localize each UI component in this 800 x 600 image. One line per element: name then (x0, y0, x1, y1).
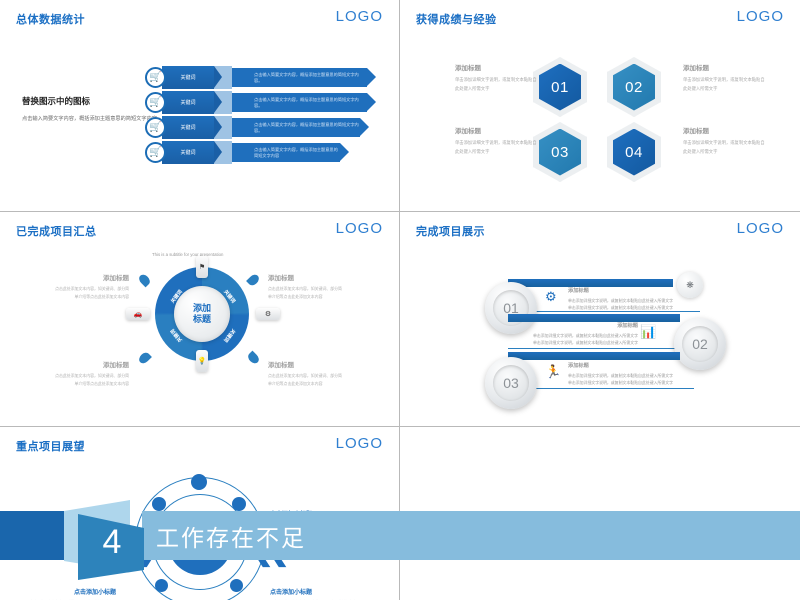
hexagon-03[interactable]: 03 (533, 122, 587, 182)
car-icon[interactable]: 🚗 (126, 308, 150, 320)
slide1-row-text: 点击输入简要文字内容，概括添加主题意思的简短文字内容。 (254, 72, 367, 84)
slide3-text-block: 添加标题 点击此处添加文本内容，如关键词、部分简单介绍等点击此处添加文本内容 (268, 359, 342, 388)
slide6-left-bar (0, 511, 64, 560)
slide5-dot (232, 497, 246, 511)
slide4-body-line: 单击添加详细文字说明，或复制文本黏贴自此处键入所需文字 (568, 297, 692, 304)
slide2-text-block: 添加标题 单击添加详细文字说明，或复制文本黏贴自此处键入所需文字 (683, 62, 765, 93)
petal-decor (246, 351, 261, 366)
slide1-row-keyword: 关键词 (162, 91, 214, 114)
slide5-dot (155, 579, 168, 592)
slide4-line (508, 348, 700, 349)
hexagon-face: 01 (539, 64, 581, 111)
slide3-body: 点击此处添加文本内容，如关键词、部分简单介绍等点击此处添加文本内容 (55, 285, 129, 301)
slide2-body: 单击添加详细文字说明，或复制文本黏贴自此处键入所需文字 (455, 139, 537, 156)
flag-icon[interactable]: ⚑ (196, 256, 208, 278)
slide1-row-text: 点击输入简要文字内容，概括添加主题意思的简短文字内容。 (254, 97, 367, 109)
slide2-heading: 添加标题 (455, 62, 537, 72)
slide4-number-circle[interactable]: 03 (485, 357, 537, 409)
lightbulb-icon[interactable]: 💡 (196, 350, 208, 372)
hexagon-shadow: 01 (533, 57, 587, 117)
slide-thumbnail-1[interactable]: 总体数据统计 LOGO 替换图示中的图标 点击输入简要文字内容，概括添加主题意思… (0, 0, 400, 212)
shopping-cart-icon: 🛒 (145, 92, 166, 113)
hexagon-face: 04 (613, 129, 655, 176)
slide4-heading: 添加标题 (568, 362, 692, 369)
slide1-row-bar: 点击输入简要文字内容，概括添加主题意思的简短文字内容 (232, 143, 340, 162)
hexagon-number: 04 (625, 144, 643, 161)
slide5-text-block: 点击添加小标题 点击输入简要文字内容，概括添加主题意思的简短内容。 (270, 587, 366, 600)
slide-thumbnail-4[interactable]: 完成项目展示 LOGO 01 ⚙ 添加标题 单击添加详细文字说明，或复制文本黏贴… (400, 212, 800, 427)
page-title: 获得成绩与经验 (416, 11, 497, 27)
slide1-body: 点击输入简要文字内容，概括添加主题意思的简短文字内容 (22, 115, 162, 125)
slide3-text-block: 添加标题 点击此处添加文本内容，如关键词、部分简单介绍等点击此处添加文本内容 (55, 359, 129, 388)
flourish-icon: ❋ (677, 272, 703, 298)
hexagon-number: 02 (625, 79, 643, 96)
hexagon-face: 03 (539, 129, 581, 176)
slide4-heading: 添加标题 (514, 322, 638, 329)
slide-thumbnail-2[interactable]: 获得成绩与经验 LOGO 01 02 03 04 添加标题 单击添加详细文字说明… (400, 0, 800, 212)
slide1-row-keyword: 关键词 (162, 141, 214, 164)
slide3-text-block: 添加标题 点击此处添加文本内容，如关键词、部分简单介绍等点击此处添加文本内容 (55, 272, 129, 301)
petal-decor (137, 273, 152, 288)
slide4-heading: 添加标题 (568, 287, 692, 294)
slide2-heading: 添加标题 (455, 125, 537, 135)
slide5-dot (152, 497, 166, 511)
slide4-text-block: 添加标题 单击添加详细文字说明，或复制文本黏贴自此处键入所需文字 单击添加详细文… (568, 362, 692, 387)
slide6-number: 4 (103, 523, 122, 562)
slide2-text-block: 添加标题 单击添加详细文字说明，或复制文本黏贴自此处键入所需文字 (455, 125, 537, 156)
slide5-text-block: 点击添加小标题 点击输入简要文字内容，概括添加主题意思的简短内容。 (20, 587, 116, 600)
hexagon-number: 01 (551, 79, 569, 96)
slide1-row-bar: 点击输入简要文字内容，概括添加主题意思的简短文字内容。 (232, 118, 360, 137)
slide1-left-text: 替换图示中的图标 点击输入简要文字内容，概括添加主题意思的简短文字内容 (22, 95, 162, 125)
slide2-text-block: 添加标题 单击添加详细文字说明，或复制文本黏贴自此处键入所需文字 (455, 62, 537, 93)
hexagon-04[interactable]: 04 (607, 122, 661, 182)
gear-icon[interactable]: ⚙ (256, 308, 280, 320)
slide3-body: 点击此处添加文本内容，如关键词、部分简单介绍等点击此处添加文本内容 (55, 372, 129, 388)
slide1-heading: 替换图示中的图标 (22, 95, 162, 107)
slide1-row-bar: 点击输入简要文字内容，概括添加主题意思的简短文字内容。 (232, 68, 367, 87)
slide4-bar (508, 314, 680, 322)
slide5-dot (191, 474, 207, 490)
slide4-body-line: 单击添加详细文字说明，或复制文本黏贴自此处键入所需文字 (568, 379, 692, 386)
slide3-subtitle: This is a subtitle for your presentation (152, 252, 223, 257)
page-title: 已完成项目汇总 (16, 223, 97, 239)
slide1-row-keyword: 关键词 (162, 66, 214, 89)
slide4-bar (508, 352, 680, 360)
slide4-body-line: 单击添加详细文字说明，或复制文本黏贴自此处键入所需文字 (514, 339, 638, 346)
slide5-heading: 点击添加小标题 (270, 587, 366, 596)
hexagon-face: 02 (613, 64, 655, 111)
slide5-dot (230, 579, 243, 592)
slide1-row-keyword: 关键词 (162, 116, 214, 139)
slide3-heading: 添加标题 (268, 272, 342, 282)
slide4-body-line: 单击添加详细文字说明，或复制文本黏贴自此处键入所需文字 (568, 372, 692, 379)
slide3-heading: 添加标题 (55, 272, 129, 282)
slide4-number: 03 (493, 365, 529, 401)
slide4-number: 02 (682, 326, 718, 362)
slide2-body: 单击添加详细文字说明，或复制文本黏贴自此处键入所需文字 (455, 76, 537, 93)
hexagon-01[interactable]: 01 (533, 57, 587, 117)
shopping-cart-icon: 🛒 (145, 117, 166, 138)
slide3-heading: 添加标题 (55, 359, 129, 369)
slide2-text-block: 添加标题 单击添加详细文字说明，或复制文本黏贴自此处键入所需文字 (683, 125, 765, 156)
team-gear-icon: ⚙ (545, 289, 557, 305)
logo: LOGO (737, 220, 784, 237)
presentation-icon: 📊 (640, 324, 656, 340)
page-title: 总体数据统计 (16, 11, 85, 27)
slide6-band: 工作存在不足 (142, 511, 800, 560)
slide5-heading: 点击添加小标题 (20, 587, 116, 596)
slide2-heading: 添加标题 (683, 125, 765, 135)
page-title: 重点项目展望 (16, 438, 85, 454)
logo: LOGO (336, 220, 383, 237)
slide3-ring: 添加 标题 关键词 关键词 关键词 关键词 (155, 267, 249, 361)
slide1-row-text: 点击输入简要文字内容，概括添加主题意思的简短文字内容。 (254, 122, 360, 134)
hexagon-shadow: 03 (533, 122, 587, 182)
hexagon-number: 03 (551, 144, 569, 161)
slide3-body: 点击此处添加文本内容，如关键词、部分简单介绍等点击此处添加文本内容 (268, 372, 342, 388)
slide6-heading: 工作存在不足 (156, 519, 306, 553)
slide4-body-line: 单击添加详细文字说明，或复制文本黏贴自此处键入所需文字 (514, 332, 638, 339)
shopping-cart-icon: 🛒 (145, 142, 166, 163)
slide4-bar (508, 279, 673, 287)
slide1-row-bar: 点击输入简要文字内容，概括添加主题意思的简短文字内容。 (232, 93, 367, 112)
hexagon-02[interactable]: 02 (607, 57, 661, 117)
slide2-heading: 添加标题 (683, 62, 765, 72)
slide4-text-block: 添加标题 单击添加详细文字说明，或复制文本黏贴自此处键入所需文字 单击添加详细文… (514, 322, 638, 347)
slide3-heading: 添加标题 (268, 359, 342, 369)
petal-decor (246, 273, 261, 288)
shopping-cart-icon: 🛒 (145, 67, 166, 88)
hexagon-shadow: 02 (607, 57, 661, 117)
slide2-body: 单击添加详细文字说明，或复制文本黏贴自此处键入所需文字 (683, 139, 765, 156)
slide2-body: 单击添加详细文字说明，或复制文本黏贴自此处键入所需文字 (683, 76, 765, 93)
slide4-body-line: 单击添加详细文字说明，或复制文本黏贴自此处键入所需文字 (568, 304, 692, 311)
slide4-text-block: 添加标题 单击添加详细文字说明，或复制文本黏贴自此处键入所需文字 单击添加详细文… (568, 287, 692, 312)
petal-decor (137, 351, 152, 366)
slide3-body: 点击此处添加文本内容，如关键词、部分简单介绍等点击此处添加文本内容 (268, 285, 342, 301)
person-flag-icon: 🏃 (545, 364, 561, 380)
logo: LOGO (336, 435, 383, 452)
page-title: 完成项目展示 (416, 223, 485, 239)
slide3-text-block: 添加标题 点击此处添加文本内容，如关键词、部分简单介绍等点击此处添加文本内容 (268, 272, 342, 301)
slide1-row-text: 点击输入简要文字内容，概括添加主题意思的简短文字内容 (254, 147, 340, 159)
logo: LOGO (737, 8, 784, 25)
logo: LOGO (336, 8, 383, 25)
slide-thumbnail-3[interactable]: 已完成项目汇总 LOGO This is a subtitle for your… (0, 212, 400, 427)
hexagon-shadow: 04 (607, 122, 661, 182)
